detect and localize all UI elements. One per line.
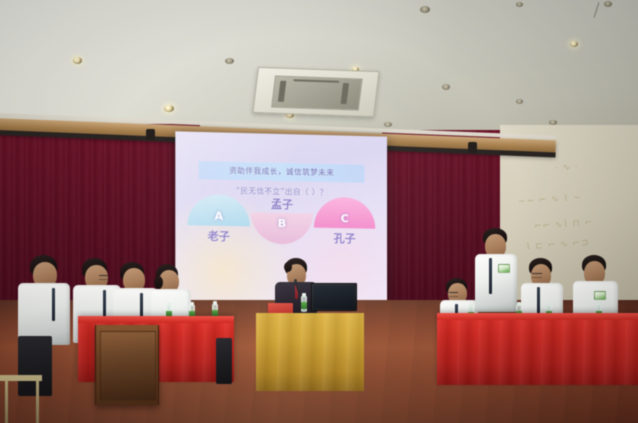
option-a-letter: A [214,210,223,223]
table-right-team [437,313,638,385]
necktie [489,258,492,294]
downlight [516,2,523,7]
name-badge [498,264,510,273]
table-trim [437,313,638,320]
name-badge [594,291,606,300]
bottle-label [301,302,307,309]
bottle-cap [167,302,171,306]
wall-scribble: ~~ ⌐ ∿ ⌇ ~ [518,193,582,207]
slide-option-a: A 老子 [187,194,250,244]
projection-screen: 资助伴我成长，诚信筑梦未来 “民无信不立”出自（ ）？ A 老子 孟子 B [175,131,387,303]
bottle-cap [469,303,473,307]
stage-scene: ~~ ⌐ ∿ ⌇ ~ ⌐⌐ ∿⌇ ⊓ ⌐ ⌇ ⊏ ⌐ ∿ ⌐⊐ · ∿ · 资助… [0,0,638,423]
necktie [52,288,55,321]
option-b-dome: B [251,212,313,244]
downlight [516,99,523,104]
eyeglasses-icon [99,275,108,280]
necktie [537,287,540,315]
laptop[interactable] [311,283,357,311]
laptop-screen [313,285,355,309]
wall-scribble: · ∿ · [555,162,580,174]
option-c-dome: C [314,197,375,229]
wall-scribble: ⌇ ⊏ ⌐ ∿ ⌐⊐ [526,238,590,252]
bottle-cap [517,302,521,306]
downlight [570,41,578,47]
wall-scribble: ⌐⌐ ∿⌇ ⊓ ⌐ [534,218,594,232]
water-bottle [301,293,307,312]
slide-banner: 资助伴我成长，诚信筑梦未来 [199,161,364,183]
stool-leg [36,380,39,423]
option-c-answer: 孔子 [314,230,375,247]
slide-banner-text: 资助伴我成长，诚信筑梦未来 [229,165,334,178]
slide-option-b: 孟子 B [251,195,313,244]
downlight [225,58,234,64]
rail-bracket [468,142,477,153]
downlight [73,57,82,64]
bottle-cap [190,302,194,306]
eyeglasses-icon [532,273,542,278]
rail-bracket [146,129,155,140]
podium-face [100,331,157,400]
microphone-head [294,279,297,283]
projected-slide: 资助伴我成长，诚信筑梦未来 “民无信不立”出自（ ）？ A 老子 孟子 B [175,131,387,303]
bottle-cap [547,302,551,306]
seated-legs [216,338,232,384]
downlight [442,84,450,90]
option-b-answer: 孟子 [251,195,313,212]
downlight [604,1,612,7]
bottle-cap [213,301,217,305]
podium [95,325,159,405]
downlight [384,122,392,127]
downlight [164,105,174,112]
option-b-letter: B [278,217,286,230]
bottle-cap [597,302,601,306]
option-a-answer: 老子 [187,227,250,244]
eyeglasses-icon [449,292,458,297]
torso [475,254,517,312]
stool-leg [5,380,8,423]
seated-legs [18,336,52,396]
option-c-letter: C [341,212,349,225]
option-a-dome: A [187,194,250,226]
air-conditioner-icon [252,67,379,117]
slide-option-c: C 孔子 [314,197,375,247]
hair-bun [284,262,292,272]
hair-bun [154,276,163,289]
downlight [420,6,430,13]
table-trim [78,316,234,323]
table-host [256,313,364,391]
bottle-cap [302,293,306,297]
